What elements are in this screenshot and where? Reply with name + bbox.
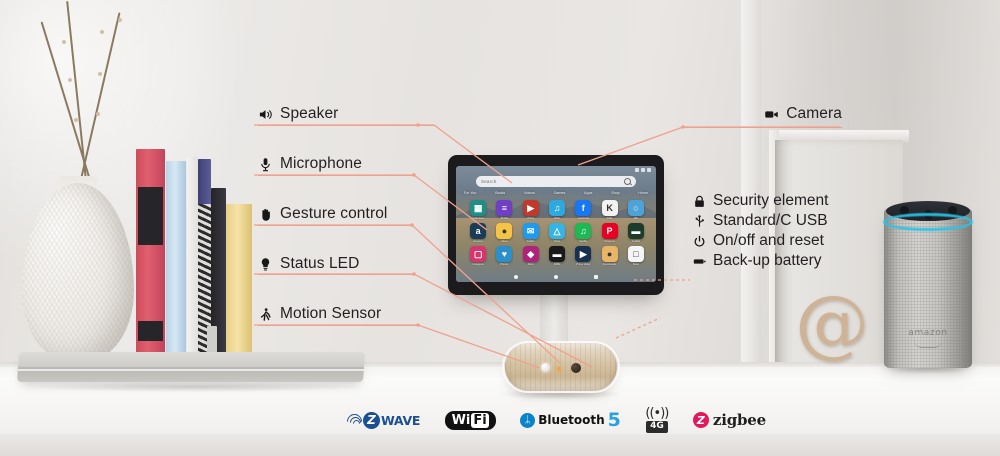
nav-back-icon[interactable] xyxy=(514,275,518,279)
power-icon xyxy=(692,234,706,248)
app-label: Kids xyxy=(607,217,612,220)
motion-person-icon xyxy=(258,307,273,322)
fire-tablet: Search For You Books Videos Games Apps S… xyxy=(448,155,664,295)
app-tile[interactable]: △Drive xyxy=(545,223,569,243)
book-label-band xyxy=(138,321,163,341)
book-white xyxy=(187,157,198,364)
search-icon[interactable] xyxy=(624,178,631,185)
app-tile[interactable]: ♫Spotify xyxy=(571,223,595,243)
book-light-blue xyxy=(166,161,186,364)
callout-status-led[interactable]: Status LED xyxy=(258,255,359,273)
tab-for-you[interactable]: For You xyxy=(464,191,476,195)
app-label: Silk xyxy=(634,217,638,220)
tab-home[interactable]: Home xyxy=(638,191,648,195)
branch-bud xyxy=(62,40,66,44)
app-tile[interactable]: ▬Audible xyxy=(624,223,648,243)
branch-bud xyxy=(74,118,78,122)
hub-amber-led xyxy=(557,367,561,371)
spec-security-element[interactable]: Security element xyxy=(692,192,828,210)
app-icon[interactable]: ▬ xyxy=(549,246,565,262)
tab-books[interactable]: Books xyxy=(495,191,505,195)
underline-gesture xyxy=(258,225,412,226)
tab-videos[interactable]: Videos xyxy=(524,191,535,195)
app-label: Collections xyxy=(472,217,485,220)
app-label: IMDb xyxy=(554,263,560,266)
logo-z-wave: Z WAVE xyxy=(346,412,420,429)
tablet-stand xyxy=(540,295,568,345)
nav-home-icon[interactable] xyxy=(554,275,558,279)
app-icon[interactable]: ✉ xyxy=(523,223,539,239)
bluetooth-rune-icon: ᛦ xyxy=(520,413,535,428)
spec-battery[interactable]: Back-up battery xyxy=(692,252,828,270)
app-tile[interactable]: PPinterest xyxy=(597,223,621,243)
wifi-fi: Fi xyxy=(471,413,488,428)
app-label: Photos xyxy=(500,263,508,266)
app-label: Spotify xyxy=(579,240,587,243)
app-icon[interactable]: P xyxy=(602,223,618,239)
app-label: Music xyxy=(554,217,561,220)
fourg-tag: 4G xyxy=(646,421,668,433)
hub-status-led xyxy=(541,363,550,372)
callout-gesture-control[interactable]: Gesture control xyxy=(258,205,387,223)
app-label: Pinterest xyxy=(604,240,614,243)
at-symbol-decor: @ xyxy=(795,288,857,358)
wall-vertical-strip xyxy=(741,0,761,372)
closed-laptop xyxy=(17,352,365,382)
smart-home-hub xyxy=(505,343,617,391)
spec-power[interactable]: On/off and reset xyxy=(692,232,828,250)
app-tile[interactable]: ▶Prime xyxy=(519,200,543,220)
callout-speaker[interactable]: Speaker xyxy=(258,105,338,123)
logo-4g: ((•)) 4G xyxy=(645,407,668,433)
app-tile[interactable]: ●Alexa xyxy=(492,223,516,243)
echo-brand-label: amazon xyxy=(884,328,972,338)
app-tile[interactable]: ♥Photos xyxy=(492,246,516,266)
zigbee-mark: Z xyxy=(693,412,709,428)
callout-label: Microphone xyxy=(280,155,362,173)
status-battery-icon xyxy=(647,168,651,172)
branch-bud xyxy=(100,30,104,34)
protocol-logo-bar: Z WAVE Wi Fi ᛦ Bluetooth 5 ((•)) 4G Z zi… xyxy=(346,400,766,440)
logo-wifi: Wi Fi xyxy=(445,411,496,430)
zwave-wordmark: WAVE xyxy=(381,413,420,428)
spec-list: Security element Standard/C USB On/off xyxy=(692,192,828,270)
app-icon[interactable]: □ xyxy=(628,246,644,262)
app-tile[interactable]: ●Goodreads xyxy=(597,246,621,266)
app-icon[interactable]: ▶ xyxy=(575,246,591,262)
callout-camera[interactable]: Camera xyxy=(740,105,842,123)
underline-camera xyxy=(683,127,842,128)
app-icon[interactable]: ▶ xyxy=(523,200,539,216)
callout-label: Gesture control xyxy=(280,205,387,223)
tablet-screen[interactable]: Search For You Books Videos Games Apps S… xyxy=(456,166,656,282)
underline-motion xyxy=(258,325,418,326)
app-icon[interactable]: ♥ xyxy=(496,246,512,262)
underline-speaker xyxy=(258,125,434,126)
tab-games[interactable]: Games xyxy=(554,191,566,195)
video-camera-icon xyxy=(764,107,779,122)
callout-label: Camera xyxy=(786,105,842,123)
nav-recents-icon[interactable] xyxy=(594,275,598,279)
app-label: Kindle xyxy=(501,217,508,220)
status-signal-icon xyxy=(641,168,645,172)
app-tile[interactable]: ▦Collections xyxy=(466,200,490,220)
app-icon[interactable]: ♫ xyxy=(575,223,591,239)
zigbee-wordmark: zigbee xyxy=(713,411,766,429)
hub-motion-sensor xyxy=(571,363,581,373)
underline-microphone xyxy=(258,175,414,176)
app-icon[interactable]: K xyxy=(602,200,618,216)
speaker-icon xyxy=(258,107,273,122)
callout-label: Status LED xyxy=(280,255,359,273)
hub-white-rim xyxy=(502,341,620,393)
app-icon[interactable]: ▢ xyxy=(470,246,486,262)
wifi-wi: Wi xyxy=(452,413,471,428)
app-tile[interactable]: ○Silk xyxy=(624,200,648,220)
app-icon[interactable]: ● xyxy=(496,223,512,239)
app-tile[interactable]: fFacebook xyxy=(571,200,595,220)
app-label: Store xyxy=(633,263,639,266)
echo-smile-logo xyxy=(914,340,942,348)
app-label: Alexa xyxy=(501,240,508,243)
book-yellow xyxy=(226,204,252,364)
app-tile[interactable]: □Store xyxy=(624,246,648,266)
spec-label: Back-up battery xyxy=(713,252,822,270)
lock-icon xyxy=(692,194,706,208)
app-tile[interactable]: ▢Instagram xyxy=(466,246,490,266)
app-tile[interactable]: ♫Music xyxy=(545,200,569,220)
battery-icon xyxy=(692,254,706,268)
app-label: Prime Video xyxy=(576,263,590,266)
signal-waves-icon: ((•)) xyxy=(645,407,668,420)
zwave-mark: Z xyxy=(363,412,380,429)
tablet-tab-strip[interactable]: For You Books Videos Games Apps Shop Hom… xyxy=(464,191,648,195)
app-icon[interactable]: ○ xyxy=(628,200,644,216)
app-icon[interactable]: ● xyxy=(602,246,618,262)
laptop-seam xyxy=(18,369,364,371)
led-icon xyxy=(258,257,273,272)
callout-label: Motion Sensor xyxy=(280,305,381,323)
status-bar xyxy=(635,168,651,172)
app-label: Amazon xyxy=(473,240,483,243)
app-tile[interactable]: ◆Docs xyxy=(519,246,543,266)
callout-microphone[interactable]: Microphone xyxy=(258,155,362,173)
logo-zigbee: Z zigbee xyxy=(693,411,766,429)
callout-label: Speaker xyxy=(280,105,338,123)
app-label: Audible xyxy=(632,240,641,243)
app-tile[interactable]: ▶Prime Video xyxy=(571,246,595,266)
app-icon[interactable]: ▦ xyxy=(470,200,486,216)
tablet-nav-bar[interactable] xyxy=(456,275,656,279)
app-icon[interactable]: ▬ xyxy=(628,223,644,239)
app-icon[interactable]: a xyxy=(470,223,486,239)
app-label: Prime xyxy=(527,217,534,220)
branch-bud xyxy=(98,72,102,76)
branch-bud xyxy=(118,18,122,22)
app-tile[interactable]: KKids xyxy=(597,200,621,220)
branch-bud xyxy=(68,78,72,82)
book-red xyxy=(136,149,165,364)
microphone-icon xyxy=(258,157,273,172)
app-label: Facebook xyxy=(578,217,589,220)
search-placeholder: Search xyxy=(481,179,496,184)
app-icon[interactable]: △ xyxy=(549,223,565,239)
app-tile[interactable]: ≡Kindle xyxy=(492,200,516,220)
spec-label: On/off and reset xyxy=(713,232,824,250)
app-tile[interactable]: ▬IMDb xyxy=(545,246,569,266)
app-icon[interactable]: ♫ xyxy=(549,200,565,216)
app-tile[interactable]: ✉Twitter xyxy=(519,223,543,243)
bluetooth-wordmark: Bluetooth xyxy=(538,413,604,427)
spec-label: Security element xyxy=(713,192,828,210)
app-label: Goodreads xyxy=(603,263,616,266)
product-feature-diagram: Search For You Books Videos Games Apps S… xyxy=(0,0,1000,456)
status-wifi-icon xyxy=(635,168,639,172)
laptop-shadow xyxy=(26,382,364,392)
callout-motion-sensor[interactable]: Motion Sensor xyxy=(258,305,381,323)
app-icon-grid[interactable]: ▦Collections≡Kindle▶Prime♫MusicfFacebook… xyxy=(466,200,648,266)
amazon-echo-speaker: amazon xyxy=(884,208,972,368)
tab-shop[interactable]: Shop xyxy=(611,191,619,195)
app-label: Docs xyxy=(528,263,534,266)
spec-label: Standard/C USB xyxy=(713,212,828,230)
hand-icon xyxy=(258,207,273,222)
tablet-search-bar[interactable]: Search xyxy=(476,176,636,187)
branch-bud xyxy=(96,112,100,116)
app-label: Drive xyxy=(554,240,560,243)
usb-icon xyxy=(692,214,706,228)
app-icon[interactable]: ≡ xyxy=(496,200,512,216)
book-label-band xyxy=(138,187,163,245)
app-icon[interactable]: f xyxy=(575,200,591,216)
app-label: Instagram xyxy=(472,263,484,266)
app-tile[interactable]: aAmazon xyxy=(466,223,490,243)
zwave-arcs-icon xyxy=(346,412,362,429)
app-icon[interactable]: ◆ xyxy=(523,246,539,262)
logo-bluetooth: ᛦ Bluetooth 5 xyxy=(520,411,621,430)
underline-status-led xyxy=(258,274,414,275)
tab-apps[interactable]: Apps xyxy=(584,191,592,195)
bluetooth-version: 5 xyxy=(608,411,621,430)
echo-light-ring xyxy=(883,213,973,231)
spec-usb[interactable]: Standard/C USB xyxy=(692,212,828,230)
app-label: Twitter xyxy=(527,240,535,243)
